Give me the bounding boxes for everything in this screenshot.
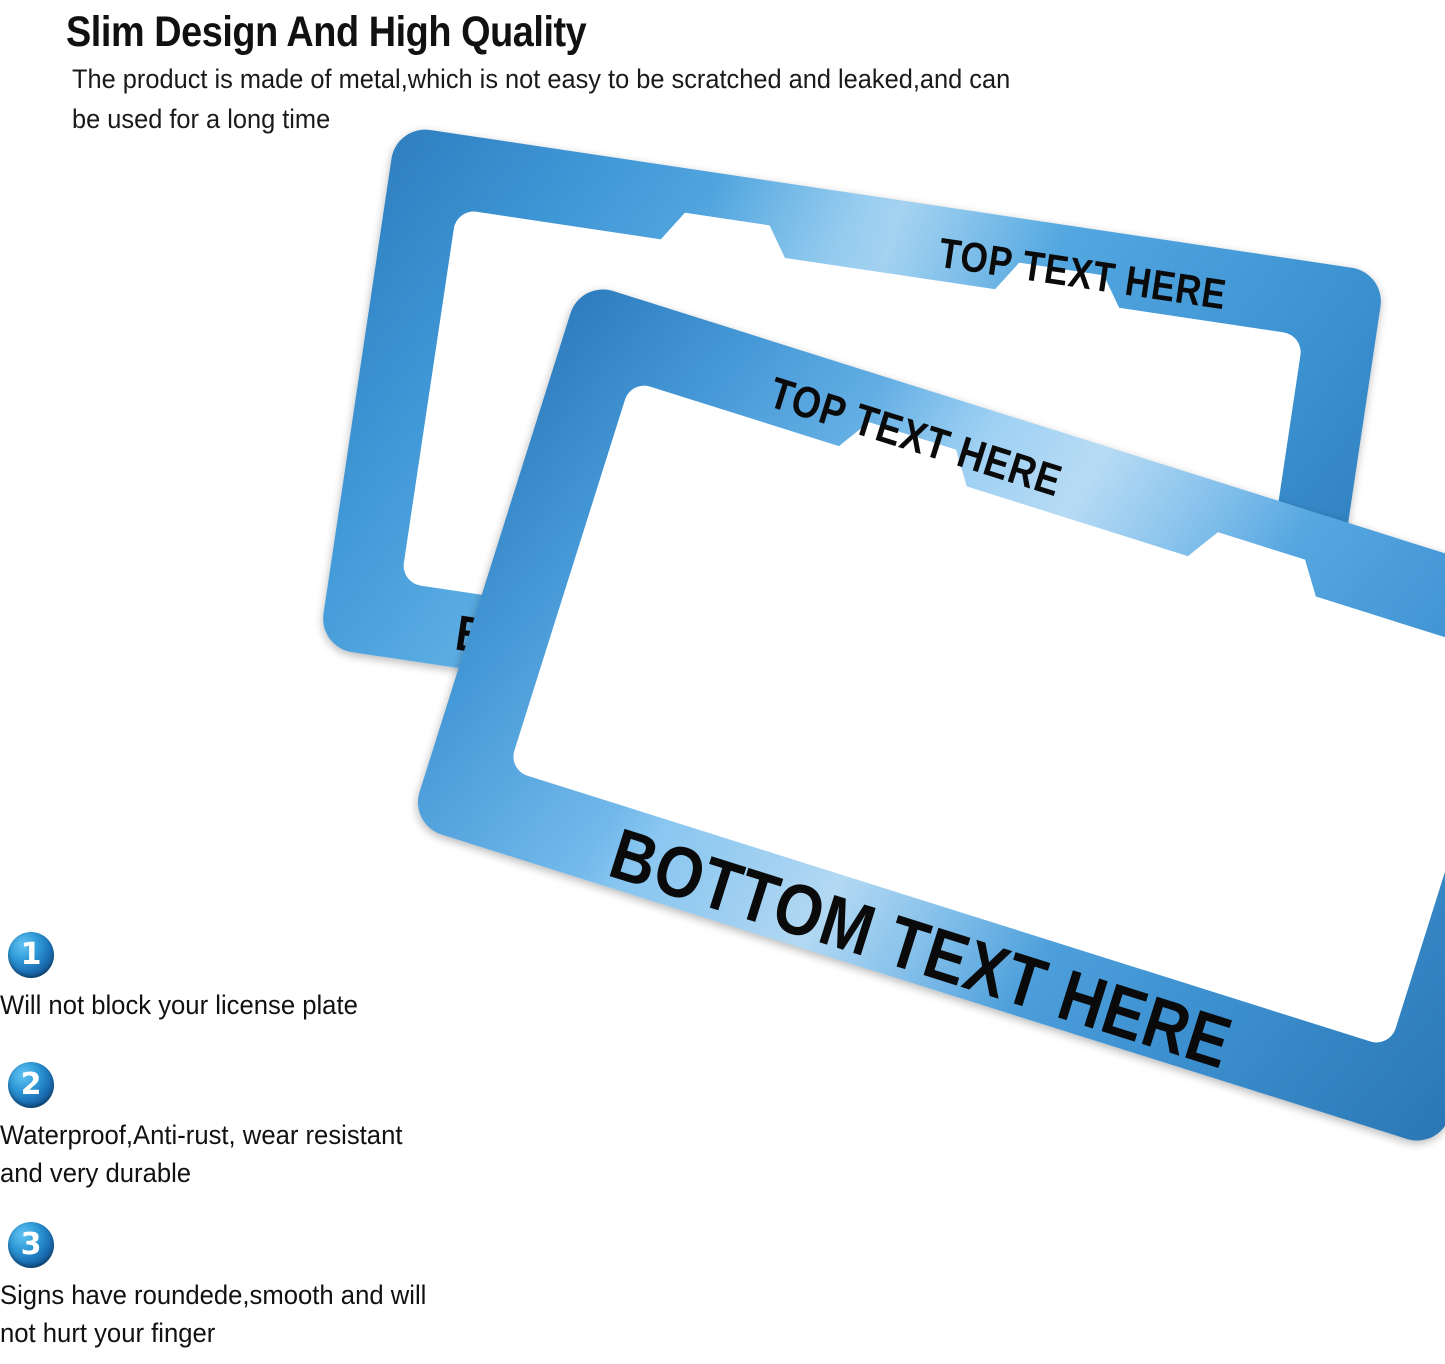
feature-item-3: 3 Signs have roundede,smooth and will no… (0, 1222, 620, 1353)
feature-text-1: Will not block your license plate (0, 986, 589, 1024)
feature-item-2: 2 Waterproof,Anti-rust, wear resistant a… (0, 1062, 620, 1193)
feature-number-badge-3: 3 (8, 1222, 54, 1268)
feature-item-1: 1 Will not block your license plate (0, 932, 620, 1024)
feature-text-3: Signs have roundede,smooth and will not … (0, 1276, 589, 1353)
feature-number-badge-1: 1 (8, 932, 54, 978)
feature-number-badge-2: 2 (8, 1062, 54, 1108)
feature-text-2: Waterproof,Anti-rust, wear resistant and… (0, 1116, 589, 1193)
